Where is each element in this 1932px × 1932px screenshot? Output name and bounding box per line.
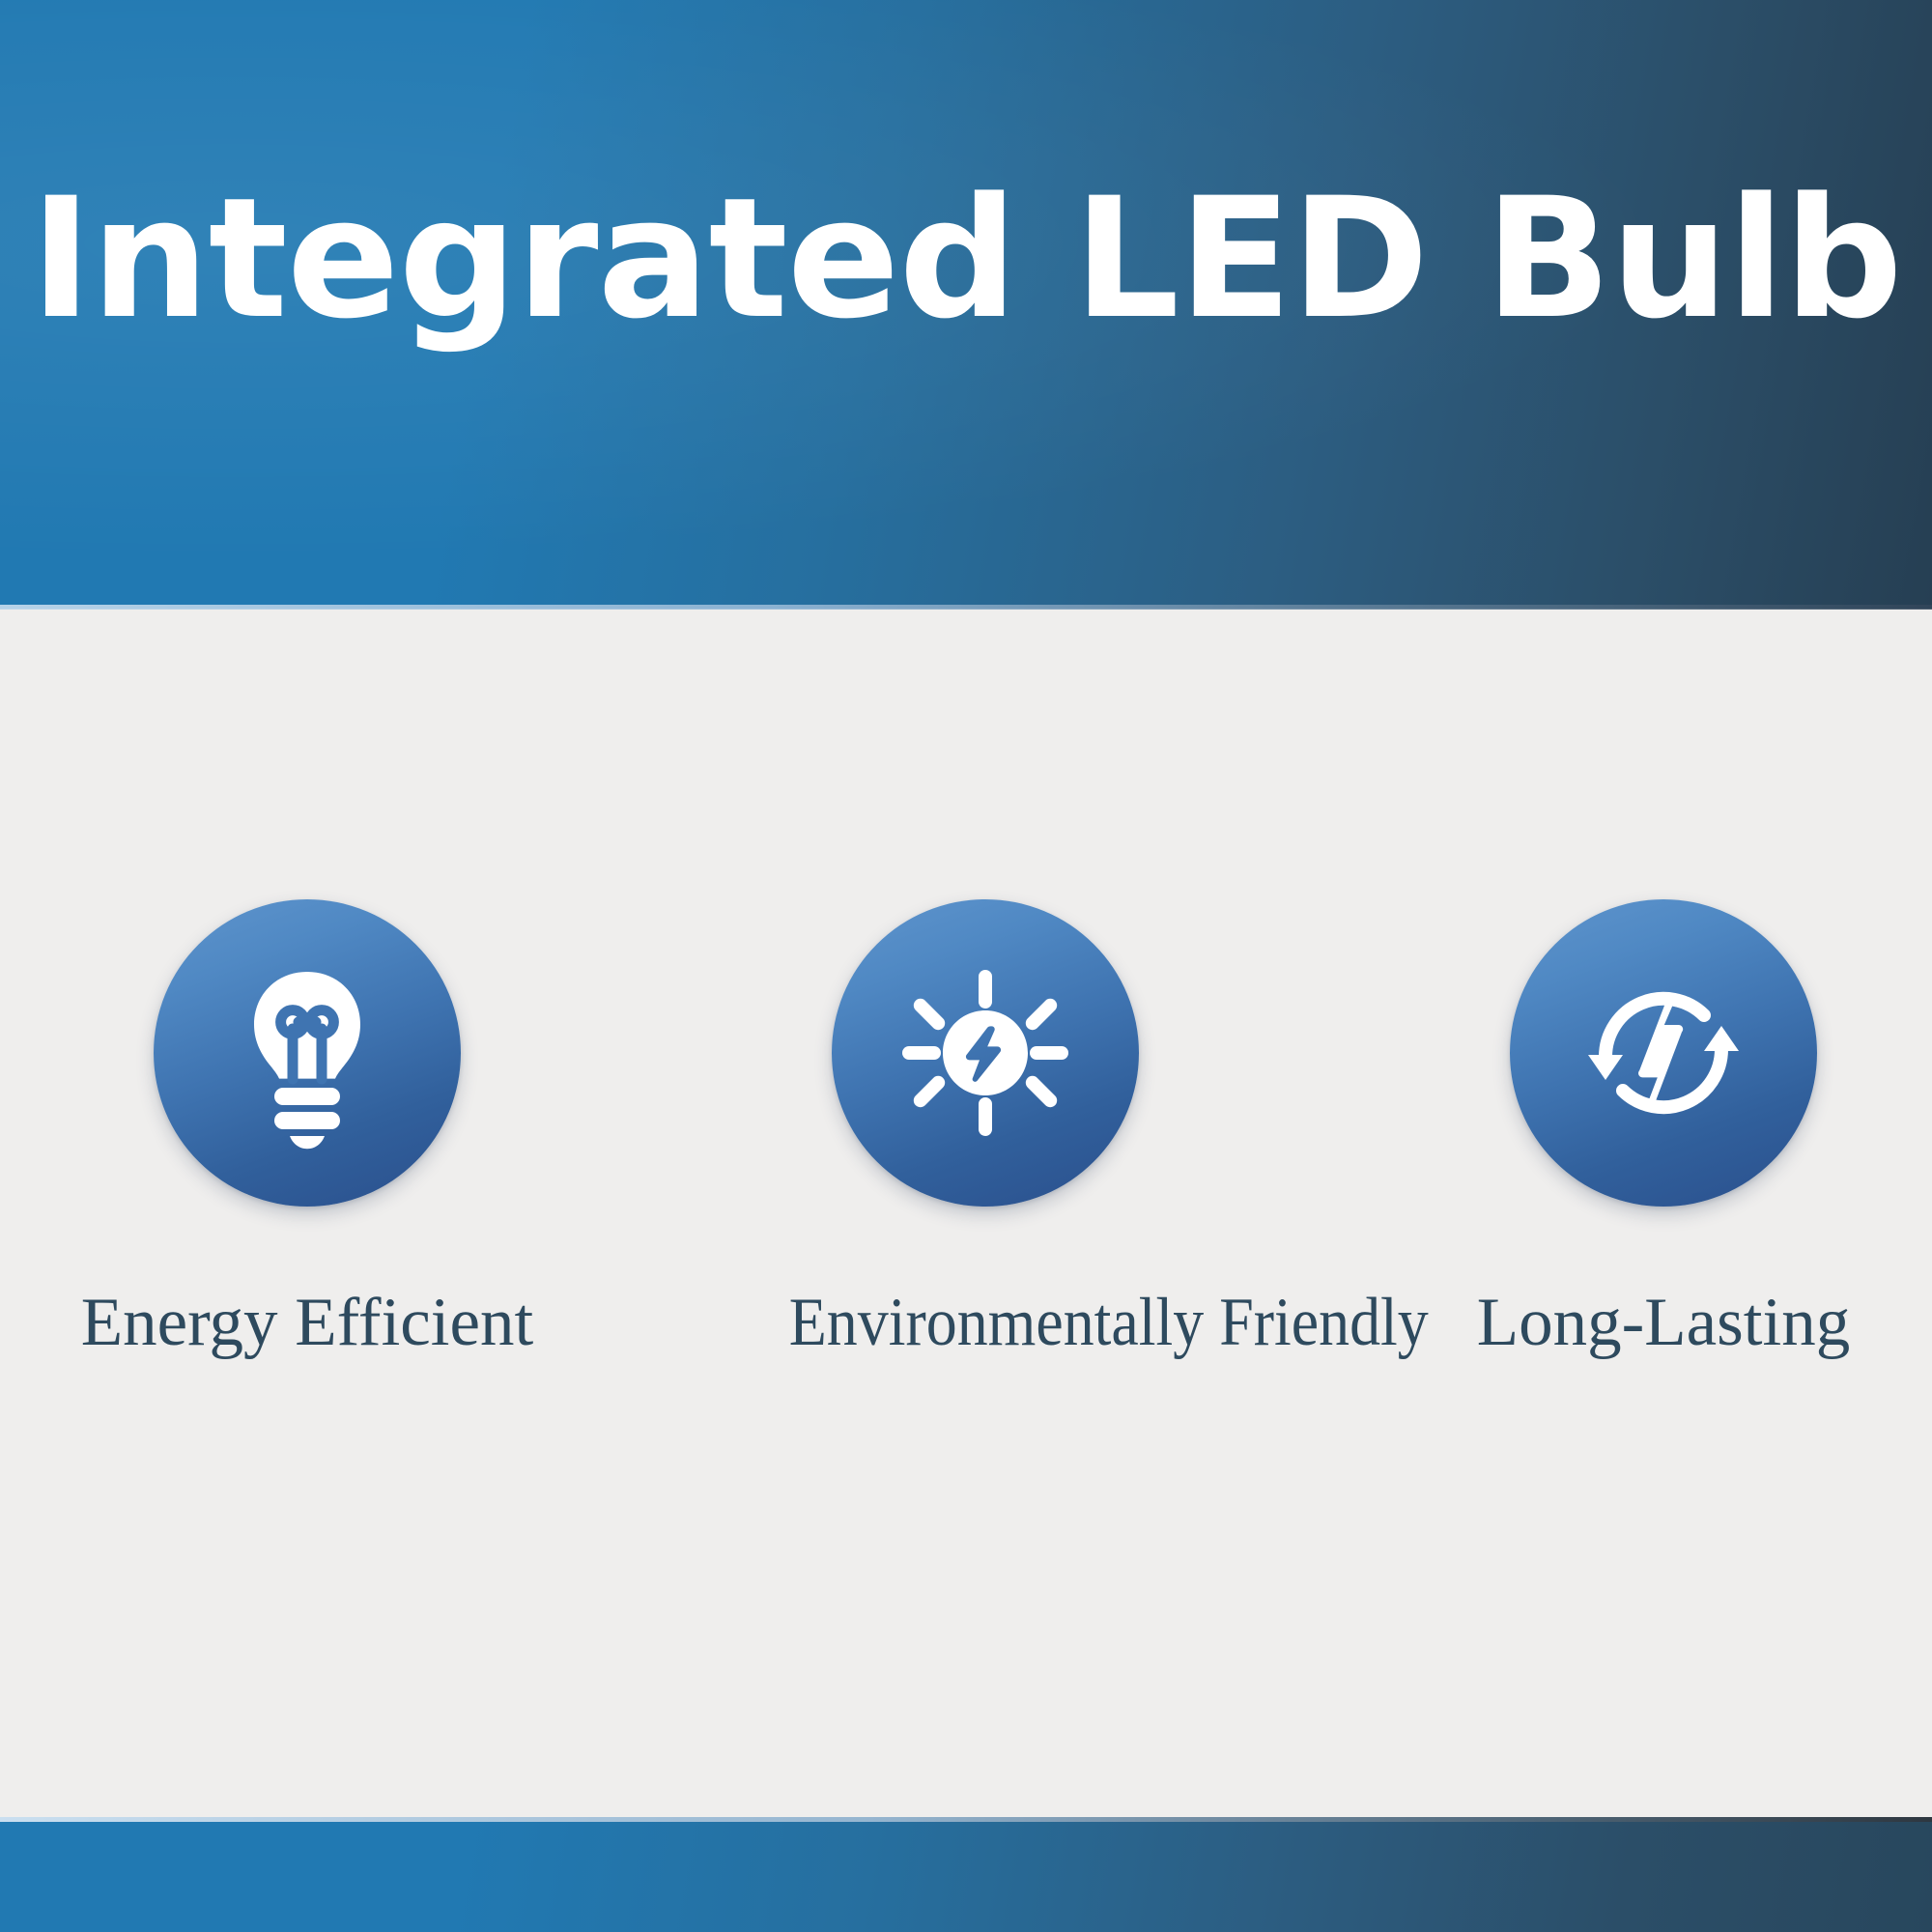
content-area: Energy Efficient [0,610,1932,1821]
feature-icon-badge [154,899,461,1207]
feature-item-energy-efficient: Energy Efficient [75,899,539,1357]
feature-icon-badge [832,899,1139,1207]
page-title: Integrated LED Bulb [0,172,1932,347]
lightbulb-icon [211,956,404,1150]
feature-label: Energy Efficient [75,1289,539,1357]
feature-label-text: Environmentally Friendly [789,1289,1429,1357]
feature-icon-badge [1510,899,1817,1207]
header-banner: Integrated LED Bulb [0,0,1932,609]
feature-list: Energy Efficient [0,610,1932,1821]
feature-item-environmentally-friendly: Environmentally Friendly [753,899,1217,1357]
product-feature-poster: Integrated LED Bulb [0,0,1932,1932]
footer-banner [0,1822,1932,1932]
feature-label: Environmentally Friendly [753,1289,1217,1357]
refresh-bolt-icon [1567,956,1760,1150]
feature-label: Long-Lasting [1432,1289,1895,1357]
sun-bolt-icon [889,956,1082,1150]
feature-item-long-lasting: Long-Lasting [1432,899,1895,1357]
